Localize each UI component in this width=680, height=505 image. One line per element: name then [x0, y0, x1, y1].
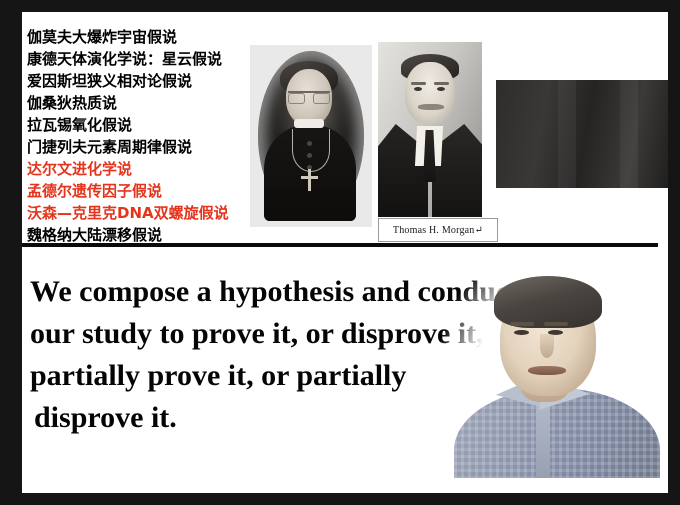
presenter-eye: [514, 330, 529, 335]
backdrop-stripe: [620, 80, 638, 188]
video-bottom-strip: [432, 478, 668, 493]
hypothesis-item-8: 孟德尔遗传因子假说: [27, 180, 277, 202]
presenter-mouth: [528, 366, 566, 375]
presenter-video-overlay[interactable]: [432, 270, 668, 493]
hypothesis-item-5: 拉瓦锡氧化假说: [27, 114, 277, 136]
hypothesis-item-6: 门捷列夫元素周期律假说: [27, 136, 277, 158]
morgan-brow: [434, 82, 449, 85]
presenter-hair: [494, 276, 602, 328]
hypothesis-item-9: 沃森—克里克DNA双螺旋假说: [27, 202, 277, 224]
hypothesis-item-1: 伽莫夫大爆炸宇宙假说: [27, 26, 277, 48]
morgan-mustache: [418, 104, 444, 110]
mendel-chain: [292, 129, 330, 172]
photo-background: [496, 80, 668, 188]
presenter-nose: [540, 334, 554, 358]
photo-caption-box: Thomas H. Morgan↵: [378, 218, 498, 242]
photo-thomas-h-morgan: [378, 42, 482, 217]
morgan-eye: [414, 87, 422, 91]
photo-gregor-mendel: [250, 45, 372, 227]
presenter-brow: [510, 322, 534, 326]
hypothesis-item-4: 伽桑狄热质说: [27, 92, 277, 114]
presenter-figure: [432, 270, 668, 493]
cross-icon: [308, 169, 311, 191]
hypothesis-item-2: 康德天体演化学说：星云假说: [27, 48, 277, 70]
section-divider: [22, 243, 658, 247]
slide-canvas: 伽莫夫大爆炸宇宙假说 康德天体演化学说：星云假说 爱因斯坦狭义相对论假说 伽桑狄…: [22, 12, 668, 493]
morgan-eye: [437, 87, 445, 91]
mendel-collar: [294, 119, 324, 128]
hypothesis-list: 伽莫夫大爆炸宇宙假说 康德天体演化学说：星云假说 爱因斯坦狭义相对论假说 伽桑狄…: [27, 26, 277, 246]
glasses-icon: [288, 91, 330, 102]
presenter-brow: [544, 322, 568, 326]
morgan-face: [405, 62, 455, 124]
morgan-brow: [411, 82, 426, 85]
presentation-frame: 伽莫夫大爆炸宇宙假说 康德天体演化学说：星云假说 爱因斯坦狭义相对论假说 伽桑狄…: [0, 0, 680, 505]
photo-watson-and-crick: [496, 80, 668, 188]
hypothesis-item-7: 达尔文进化学说: [27, 158, 277, 180]
photo-caption-text: Thomas H. Morgan↵: [393, 225, 483, 236]
cross-icon: [301, 176, 318, 179]
backdrop-stripe: [558, 80, 576, 188]
hypothesis-item-3: 爱因斯坦狭义相对论假说: [27, 70, 277, 92]
